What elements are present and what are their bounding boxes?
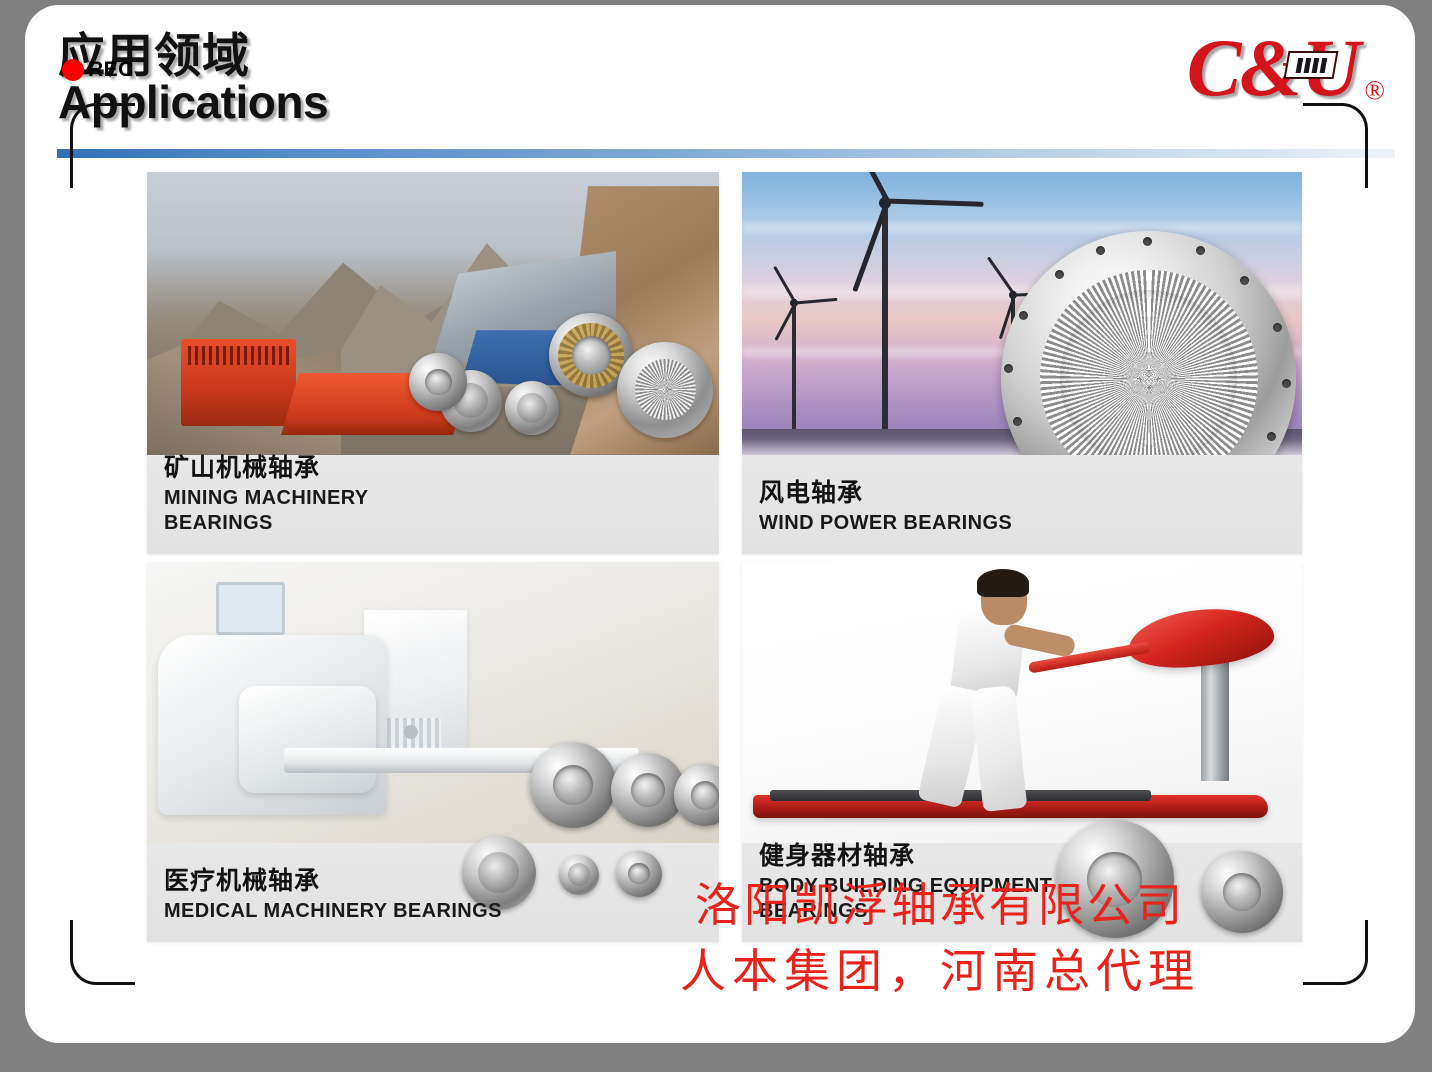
card-title-chinese: 矿山机械轴承 — [164, 453, 369, 483]
card-title-chinese: 风电轴承 — [759, 478, 1012, 508]
decorative-bearing — [1201, 851, 1283, 933]
header-divider-rule — [57, 149, 1395, 158]
card-title-chinese: 健身器材轴承 — [759, 841, 1052, 871]
registered-trademark-icon: ® — [1364, 75, 1385, 106]
card-title-english: MEDICAL MACHINERY BEARINGS — [164, 899, 502, 924]
watermark-line-2: 人本集团，河南总代理 — [680, 939, 1200, 1005]
card-title-chinese: 医疗机械轴承 — [164, 866, 502, 896]
medical-machinery-photo — [147, 562, 719, 843]
decorative-bearing — [559, 855, 599, 895]
logo-bars-icon — [1283, 51, 1338, 79]
mining-machinery-photo — [147, 172, 719, 455]
decorative-bearing — [616, 851, 662, 897]
card-caption-medical: 医疗机械轴承 MEDICAL MACHINERY BEARINGS — [164, 866, 502, 924]
card-title-english: MINING MACHINERY BEARINGS — [164, 486, 369, 536]
corner-bracket-top-right — [1303, 103, 1368, 168]
application-card-medical[interactable]: 医疗机械轴承 MEDICAL MACHINERY BEARINGS — [147, 562, 719, 942]
application-cards-grid: 矿山机械轴承 MINING MACHINERY BEARINGS — [147, 172, 1302, 935]
slide-header: 应用领域 Applications C&U ® — [25, 5, 1415, 155]
corner-bracket-top-left — [70, 103, 135, 168]
card-caption-mining: 矿山机械轴承 MINING MACHINERY BEARINGS — [164, 453, 369, 536]
slide-canvas: 应用领域 Applications C&U ® REC — [25, 5, 1415, 1043]
application-card-mining[interactable]: 矿山机械轴承 MINING MACHINERY BEARINGS — [147, 172, 719, 554]
recording-indicator-label: REC — [88, 58, 134, 82]
corner-bracket-bottom-left — [70, 920, 135, 985]
corner-bracket-bottom-right — [1303, 920, 1368, 985]
card-caption-wind-power: 风电轴承 WIND POWER BEARINGS — [759, 478, 1012, 536]
recording-indicator: REC — [62, 58, 134, 82]
record-dot-icon — [62, 59, 84, 81]
application-card-wind-power[interactable]: 风电轴承 WIND POWER BEARINGS — [742, 172, 1302, 554]
cu-brand-logo: C&U ® — [1187, 27, 1385, 109]
wind-power-photo — [742, 172, 1302, 455]
body-building-equipment-photo — [742, 562, 1302, 843]
company-watermark: 洛阳凯浮轴承有限公司 人本集团，河南总代理 — [680, 873, 1200, 1005]
card-title-english: WIND POWER BEARINGS — [759, 511, 1012, 536]
watermark-line-1: 洛阳凯浮轴承有限公司 — [680, 873, 1200, 939]
